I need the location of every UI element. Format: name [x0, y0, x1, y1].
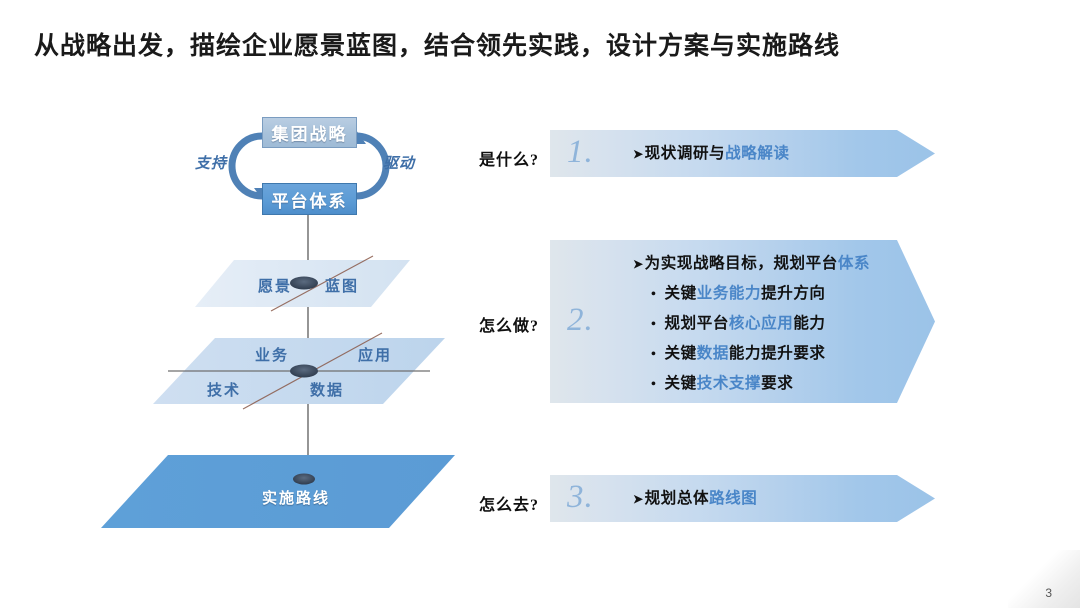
banner-text-highlight: 战略解读 — [725, 145, 789, 162]
question-label-3: 怎么去? — [479, 491, 539, 515]
plane-vision-left-label: 愿景 — [258, 275, 292, 296]
banner-text: 为实现战略目标，规划平台 — [645, 255, 838, 272]
banner-text-highlight: 技术支撑 — [697, 375, 761, 392]
plane-capability-technology-label: 技术 — [207, 379, 241, 400]
arrow-bullet-icon: ➤ — [633, 257, 644, 271]
support-arc — [232, 136, 262, 196]
question-label-2: 怎么做? — [479, 312, 539, 336]
banner-number-3: 3. — [567, 479, 594, 516]
bullet-icon: • — [651, 317, 657, 332]
page-corner-decoration — [1008, 550, 1080, 608]
strategy-diagram: 愿景 蓝图 业务 应用 技术 数据 实施路线 集团战略 平台体系 支持 驱动 — [0, 0, 480, 608]
banner-text: 关键 — [665, 285, 697, 302]
banner-text: 关键 — [665, 345, 697, 362]
plane-capability-application-label: 应用 — [358, 344, 392, 365]
banner-step-2[interactable]: 2. ➤为实现战略目标，规划平台体系•关键业务能力提升方向•规划平台核心应用能力… — [550, 240, 935, 403]
cycle-label-drive: 驱动 — [383, 152, 415, 173]
plane-roadmap-label: 实施路线 — [262, 487, 330, 508]
banner-line: •规划平台核心应用能力 — [633, 309, 891, 339]
banner-lines-3: ➤规划总体路线图 — [633, 484, 891, 514]
bullet-icon: • — [651, 347, 657, 362]
question-label-1: 是什么? — [479, 146, 539, 170]
bullet-icon: • — [651, 287, 657, 302]
banner-body-1: 1. ➤现状调研与战略解读 — [550, 130, 935, 177]
banner-step-1[interactable]: 1. ➤现状调研与战略解读 — [550, 130, 935, 177]
banner-body-2: 2. ➤为实现战略目标，规划平台体系•关键业务能力提升方向•规划平台核心应用能力… — [550, 240, 935, 403]
banner-text: 现状调研与 — [645, 145, 726, 162]
banner-text: 要求 — [761, 375, 793, 392]
banner-line: •关键数据能力提升要求 — [633, 339, 891, 369]
hub-vision — [290, 277, 318, 290]
banner-text: 能力提升要求 — [729, 345, 826, 362]
banner-text-highlight: 体系 — [838, 255, 870, 272]
drive-arc — [356, 136, 386, 196]
cycle-label-support: 支持 — [195, 152, 227, 173]
banner-number-2: 2. — [567, 302, 594, 339]
banner-line: ➤现状调研与战略解读 — [633, 139, 891, 169]
hub-roadmap — [293, 474, 315, 485]
cycle-box-group-strategy[interactable]: 集团战略 — [262, 117, 357, 148]
banner-text-highlight: 数据 — [697, 345, 729, 362]
plane-vision-right-label: 蓝图 — [325, 275, 359, 296]
cycle-box-platform-system[interactable]: 平台体系 — [262, 183, 357, 215]
banner-text: 提升方向 — [761, 285, 825, 302]
diagram-svg — [0, 0, 480, 608]
banner-lines-1: ➤现状调研与战略解读 — [633, 139, 891, 169]
banner-line: •关键技术支撑要求 — [633, 369, 891, 399]
banner-text: 规划平台 — [665, 315, 729, 332]
arrow-bullet-icon: ➤ — [633, 492, 644, 506]
banner-text-highlight: 核心应用 — [729, 315, 793, 332]
banner-text: 规划总体 — [645, 490, 709, 507]
banner-text-highlight: 业务能力 — [697, 285, 761, 302]
page-number: 3 — [1045, 586, 1052, 600]
banner-number-1: 1. — [567, 134, 594, 171]
banner-step-3[interactable]: 3. ➤规划总体路线图 — [550, 475, 935, 522]
banner-line: •关键业务能力提升方向 — [633, 279, 891, 309]
banner-line: ➤为实现战略目标，规划平台体系 — [633, 249, 891, 279]
bullet-icon: • — [651, 377, 657, 392]
banner-text: 关键 — [665, 375, 697, 392]
hub-capability — [290, 365, 318, 378]
banner-text: 能力 — [793, 315, 825, 332]
arrow-bullet-icon: ➤ — [633, 147, 644, 161]
banner-line: ➤规划总体路线图 — [633, 484, 891, 514]
plane-capability-data-label: 数据 — [310, 379, 344, 400]
banner-lines-2: ➤为实现战略目标，规划平台体系•关键业务能力提升方向•规划平台核心应用能力•关键… — [633, 249, 891, 399]
banner-body-3: 3. ➤规划总体路线图 — [550, 475, 935, 522]
plane-capability-business-label: 业务 — [255, 344, 289, 365]
banner-text-highlight: 路线图 — [709, 490, 757, 507]
